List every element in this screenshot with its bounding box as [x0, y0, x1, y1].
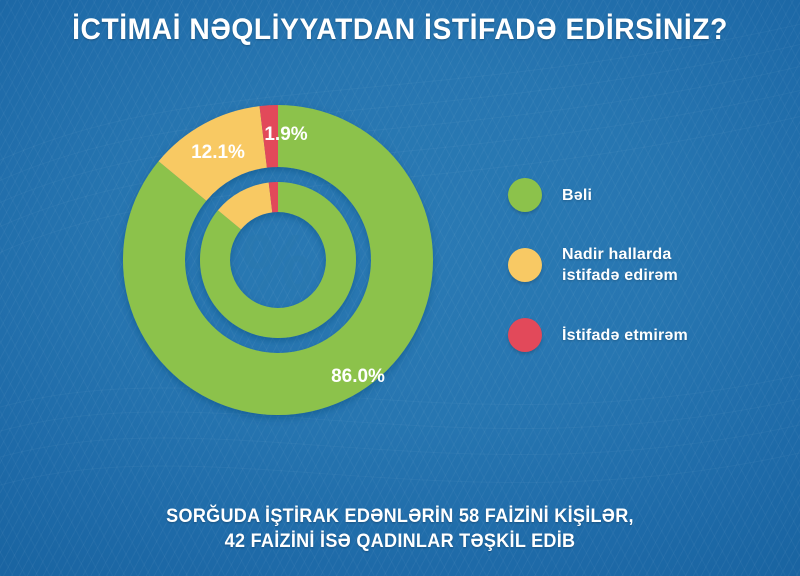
legend-item-beli[interactable]: Bəli [508, 172, 778, 218]
legend-label-line1: İstifadə etmirəm [562, 327, 688, 344]
slice-label-beli: 86.0% [331, 366, 385, 387]
chart-legend: Bəli Nadir hallarda istifadə edirəm İsti… [508, 172, 778, 382]
legend-item-istifade-etmirem[interactable]: İstifadə etmirəm [508, 312, 778, 358]
slice-label-nadir: 12.1% [191, 142, 245, 163]
legend-label-beli: Bəli [562, 185, 592, 206]
percent-watermark: % [242, 218, 313, 307]
legend-label-line1: Bəli [562, 187, 592, 204]
donut-chart: % 86.0% 12.1% 1.9% [108, 90, 453, 435]
footer-caption: SORĞUDA İŞTİRAK EDƏNLƏRİN 58 FAİZİNİ KİŞ… [20, 504, 780, 554]
page-title: İCTİMAİ NƏQLİYYATDAN İSTİFADƏ EDİRSİNİZ? [24, 12, 776, 48]
donut-chart-svg: % 86.0% 12.1% 1.9% [108, 90, 453, 435]
legend-item-nadir-hallarda[interactable]: Nadir hallarda istifadə edirəm [508, 242, 778, 288]
caption-line-1: SORĞUDA İŞTİRAK EDƏNLƏRİN 58 FAİZİNİ KİŞ… [20, 504, 780, 529]
legend-label-line2: istifadə edirəm [562, 267, 678, 284]
slice-label-istifade-etmirem: 1.9% [264, 124, 307, 145]
infographic-canvas: İCTİMAİ NƏQLİYYATDAN İSTİFADƏ EDİRSİNİZ?… [0, 0, 800, 576]
legend-label-istifade-etmirem: İstifadə etmirəm [562, 325, 688, 346]
legend-label-line1: Nadir hallarda [562, 246, 672, 263]
legend-swatch-red-icon [508, 318, 542, 352]
legend-label-nadir-hallarda: Nadir hallarda istifadə edirəm [562, 244, 678, 286]
caption-line-2: 42 FAİZİNİ İSƏ QADINLAR TƏŞKİL EDİB [20, 529, 780, 554]
legend-swatch-green-icon [508, 178, 542, 212]
legend-swatch-yellow-icon [508, 248, 542, 282]
